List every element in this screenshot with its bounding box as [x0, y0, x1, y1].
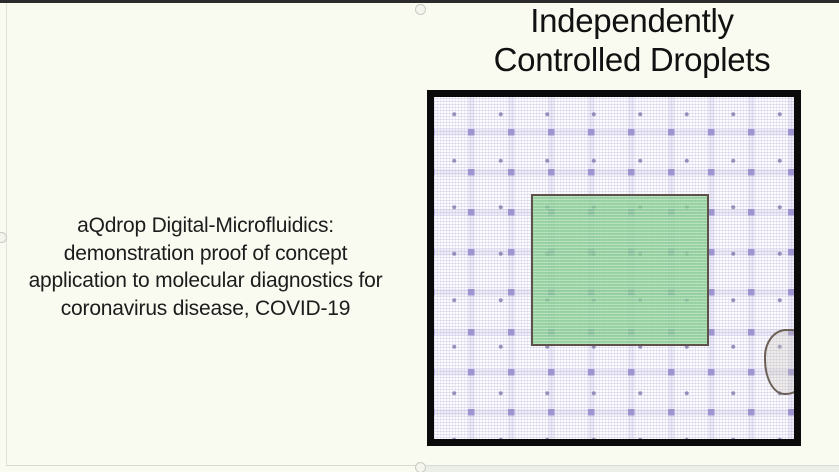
slide-title-line-1: Independently	[432, 2, 832, 41]
device-image-frame	[427, 90, 801, 446]
resize-handle-top[interactable]	[415, 4, 426, 15]
device-viewport	[434, 97, 794, 439]
bottom-right-strip	[423, 466, 839, 472]
slide-title: Independently Controlled Droplets	[432, 2, 832, 80]
caption-text: aQdrop Digital-Microfluidics: demonstrat…	[18, 212, 393, 323]
resize-handle-bottom[interactable]	[415, 462, 426, 472]
slide-title-line-2: Controlled Droplets	[432, 41, 832, 80]
large-green-droplet	[531, 194, 709, 346]
slide-canvas: aQdrop Digital-Microfluidics: demonstrat…	[0, 0, 839, 472]
